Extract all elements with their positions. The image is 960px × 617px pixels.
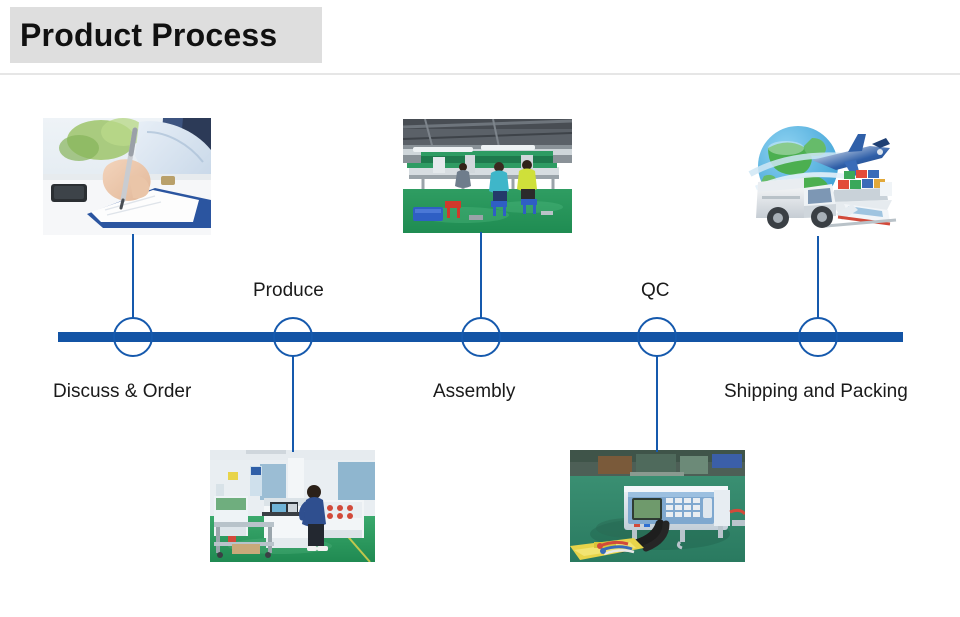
photo-shipping-packing: [740, 118, 900, 237]
photo-discuss-order-art: [43, 118, 211, 235]
connector-produce: [292, 356, 294, 452]
connector-discuss-order: [132, 234, 134, 318]
label-discuss-order: Discuss & Order: [53, 382, 191, 401]
photo-assembly-art: [403, 119, 572, 233]
label-shipping-packing: Shipping and Packing: [724, 382, 908, 401]
photo-shipping-packing-art: [740, 118, 900, 237]
connector-shipping-packing: [817, 236, 819, 318]
page-title: Product Process: [10, 19, 277, 51]
label-assembly: Assembly: [433, 382, 515, 401]
photo-produce-art: [210, 450, 375, 562]
slide-canvas: Product Process: [0, 0, 960, 617]
label-qc: QC: [641, 281, 670, 300]
connector-assembly: [480, 232, 482, 318]
timeline-node-discuss-order[interactable]: [113, 317, 153, 357]
photo-produce: [210, 450, 375, 562]
photo-qc-art: [570, 450, 745, 562]
timeline-node-produce[interactable]: [273, 317, 313, 357]
photo-qc: [570, 450, 745, 562]
page-title-box: Product Process: [10, 7, 322, 63]
timeline-node-qc[interactable]: [637, 317, 677, 357]
label-produce: Produce: [253, 281, 324, 300]
photo-discuss-order: [43, 118, 211, 235]
timeline-node-shipping-packing[interactable]: [798, 317, 838, 357]
header-divider: [0, 73, 960, 75]
connector-qc: [656, 356, 658, 452]
timeline-node-assembly[interactable]: [461, 317, 501, 357]
photo-assembly: [403, 119, 572, 233]
